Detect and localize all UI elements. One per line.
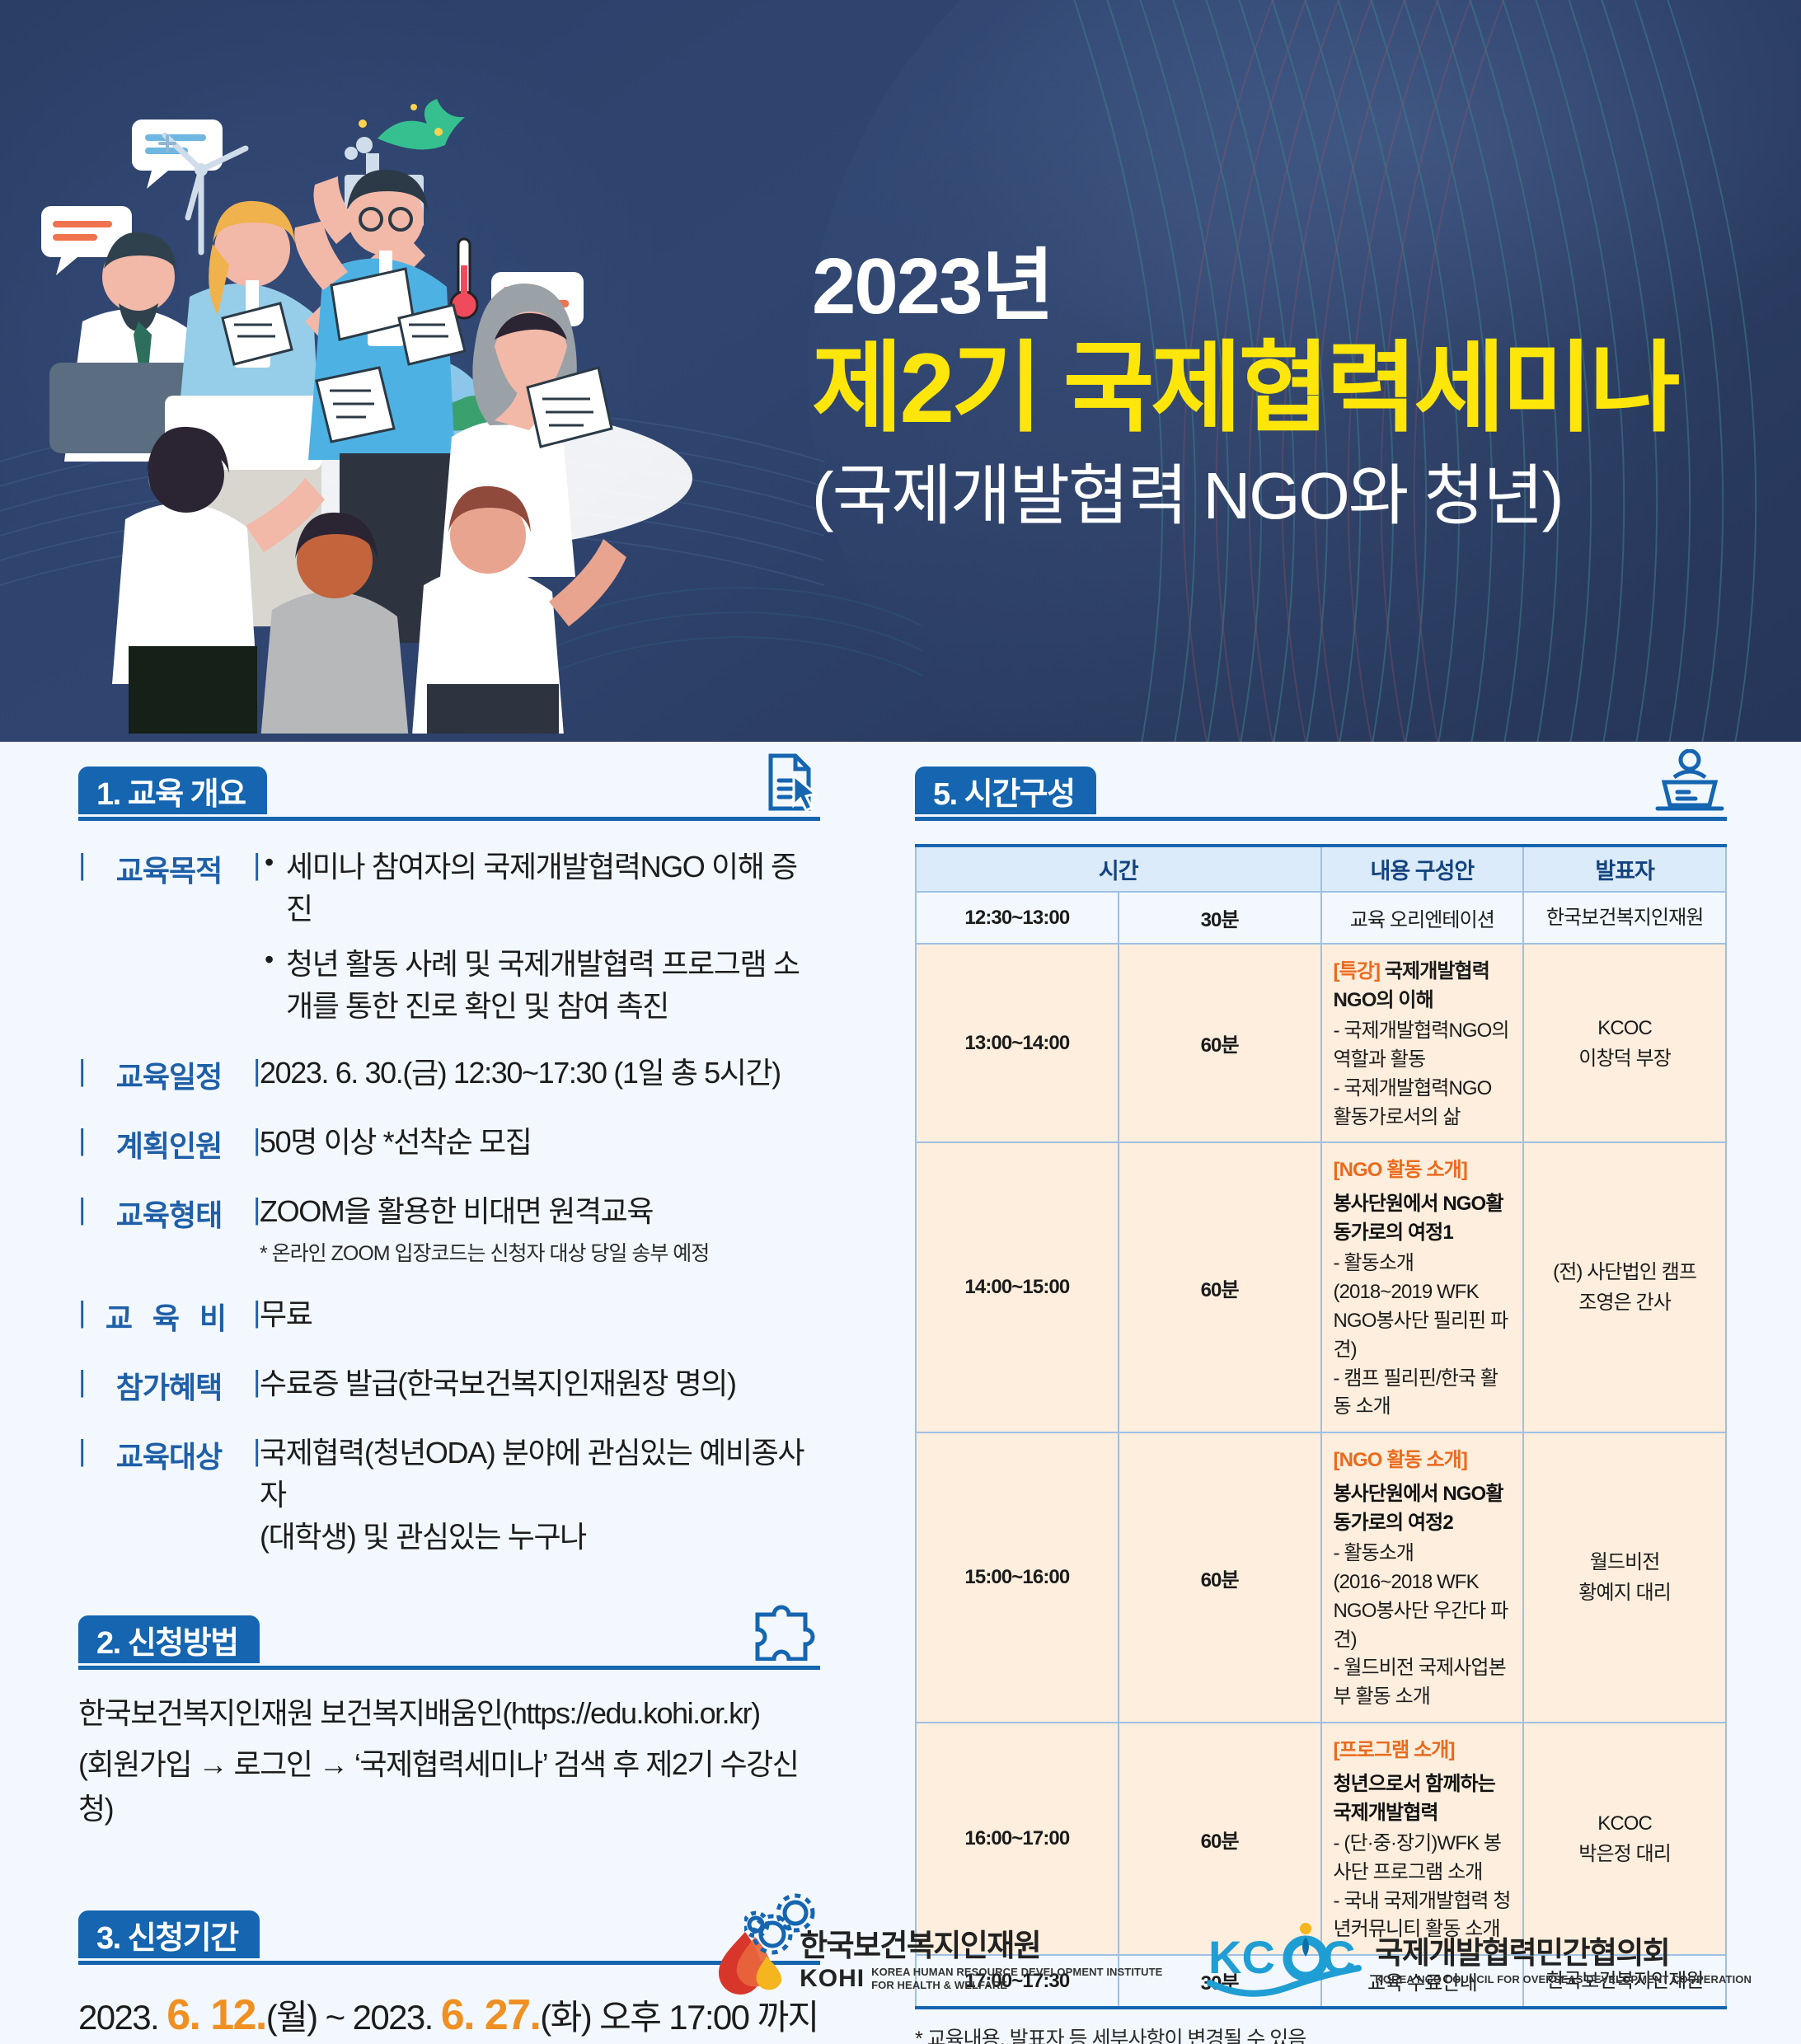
- row-content: [특강] 국제개발협력NGO의 이해 - 국제개발협력NGO의 역할과 활동 -…: [1321, 944, 1524, 1142]
- hero-subtitle: (국제개발협력 NGO와 청년): [812, 455, 1743, 537]
- overview-row: | 교육대상 | 국제협력(청년ODA) 분야에 관심있는 예비종사자 (대학생…: [78, 1432, 820, 1558]
- overview-bullet-list: 세미나 참여자의 국제개발협력NGO 이해 증진 청년 활동 사례 및 국제개발…: [260, 846, 820, 1027]
- overview-row: | 교 육 비 | 무료: [78, 1293, 820, 1338]
- hero-banner: 2023년 제2기 국제협력세미나 (국제개발협력 NGO와 청년): [0, 0, 1801, 742]
- row-detail: - 캠프 필리핀/한국 활동 소개: [1334, 1365, 1512, 1423]
- label-bar-right: |: [253, 1364, 260, 1407]
- left-column: 1. 교육 개요: [78, 766, 820, 2044]
- schedule-col-speaker: 발표자: [1523, 846, 1726, 892]
- section-apply-method-title: 2. 신청방법: [78, 1615, 260, 1663]
- svg-text:KC: KC: [1208, 1931, 1275, 1983]
- overview-label-text: 교육목적: [116, 847, 222, 890]
- section-schedule-title: 5. 시간구성: [915, 766, 1096, 814]
- label-bar-left: |: [78, 1433, 85, 1476]
- row-time: 14:00~15:00: [916, 1142, 1119, 1432]
- overview-row-value: 2023. 6. 30.(금) 12:30~17:30 (1일 총 5시간): [260, 1052, 820, 1094]
- overview-row-value: 세미나 참여자의 국제개발협력NGO 이해 증진 청년 활동 사례 및 국제개발…: [260, 846, 820, 1027]
- overview-label-text: 참가혜택: [116, 1364, 222, 1407]
- section-rule: [78, 817, 820, 821]
- row-detail: - 국제개발협력NGO의 역할과 활동: [1334, 1017, 1512, 1075]
- table-row: 15:00~16:00 60분 [NGO 활동 소개] 봉사단원에서 NGO활동…: [916, 1432, 1726, 1723]
- overview-label-text: 교 육 비: [106, 1295, 232, 1338]
- overview-label-text: 교육대상: [116, 1433, 222, 1476]
- row-time: 13:00~14:00: [916, 944, 1119, 1142]
- row-detail: - 활동소개(2018~2019 WFK NGO봉사단 필리핀 파견): [1334, 1249, 1512, 1364]
- label-bar-right: |: [253, 1295, 260, 1338]
- row-tag: [특강]: [1334, 960, 1381, 982]
- row-speaker: 한국보건복지인재원: [1523, 892, 1726, 944]
- overview-row-label: | 교육형태 |: [78, 1190, 260, 1235]
- label-bar-right: |: [253, 1053, 260, 1096]
- overview-row-label: | 교육목적 |: [78, 846, 260, 890]
- row-duration: 60분: [1119, 1142, 1321, 1432]
- label-bar-right: |: [253, 1433, 260, 1476]
- label-bar-left: |: [78, 1123, 85, 1165]
- overview-rows: | 교육목적 | 세미나 참여자의 국제개발협력NGO 이해 증진 청년 활동 …: [78, 846, 820, 1558]
- overview-row: | 참가혜택 | 수료증 발급(한국보건복지인재원장 명의): [78, 1362, 820, 1407]
- overview-row: | 교육형태 | ZOOM을 활용한 비대면 원격교육 * 온라인 ZOOM 입…: [78, 1190, 820, 1268]
- row-speaker: (전) 사단법인 캠프 조영은 간사: [1523, 1142, 1726, 1432]
- overview-value-note: * 온라인 ZOOM 입장코드는 신청자 대상 당일 송부 예정: [260, 1240, 820, 1269]
- row-time: 15:00~16:00: [916, 1432, 1119, 1723]
- right-column: 5. 시간구성 시: [915, 766, 1727, 2044]
- overview-row-label: | 참가혜택 |: [78, 1362, 260, 1407]
- overview-bullet-item: 청년 활동 사례 및 국제개발협력 프로그램 소개를 통한 진로 확인 및 참여…: [260, 943, 820, 1027]
- section-rule: [78, 1666, 820, 1670]
- overview-row-label: | 계획인원 |: [78, 1121, 260, 1165]
- overview-row-value: ZOOM을 활용한 비대면 원격교육 * 온라인 ZOOM 입장코드는 신청자 …: [260, 1190, 820, 1268]
- schedule-thead: 시간 내용 구성안 발표자: [916, 846, 1726, 892]
- apply-method-line2: (회원가입 → 로그인 → ‘국제협력세미나’ 검색 후 제2기 수강신청): [78, 1742, 820, 1831]
- row-subject: 봉사단원에서 NGO활동가로의 여정2: [1334, 1477, 1512, 1535]
- row-subject: 교육 오리엔테이션: [1321, 892, 1524, 944]
- kcoc-name-ko: 국제개발협력민간협의회: [1375, 1938, 1752, 1970]
- overview-label-text: 교육형태: [116, 1192, 222, 1235]
- label-bar-left: |: [78, 1192, 85, 1235]
- overview-row-value: 국제협력(청년ODA) 분야에 관심있는 예비종사자 (대학생) 및 관심있는 …: [260, 1432, 820, 1558]
- row-tag: [NGO 활동 소개]: [1334, 1159, 1467, 1181]
- label-bar-left: |: [78, 1295, 85, 1338]
- kcoc-logo-text: 국제개발협력민간협의회 KOREA NGO COUNCIL FOR OVERSE…: [1375, 1938, 1752, 1986]
- overview-row-value: 무료: [260, 1293, 820, 1335]
- row-duration: 60분: [1119, 1432, 1321, 1723]
- label-bar-left: |: [78, 1053, 85, 1096]
- overview-value-text: ZOOM을 활용한 비대면 원격교육: [260, 1194, 653, 1228]
- row-tag: [프로그램 소개]: [1334, 1739, 1455, 1761]
- document-cursor-icon: [757, 752, 820, 816]
- hero-people-illustration: [33, 74, 800, 734]
- body-area: 1. 교육 개요: [0, 742, 1801, 2044]
- row-content: [NGO 활동 소개] 봉사단원에서 NGO활동가로의 여정1 - 활동소개(2…: [1321, 1142, 1524, 1432]
- kohi-abbr: KOHI: [800, 1965, 865, 1993]
- poster-root: 2023년 제2기 국제협력세미나 (국제개발협력 NGO와 청년) 1. 교육…: [0, 0, 1801, 2044]
- overview-row-value: 수료증 발급(한국보건복지인재원장 명의): [260, 1362, 820, 1404]
- overview-row-label: | 교육대상 |: [78, 1432, 260, 1476]
- footer-logos: 한국보건복지인재원 KOHI KOREA HUMAN RESOURCE DEVE…: [707, 1922, 1752, 2001]
- hero-text-block: 2023년 제2기 국제협력세미나 (국제개발협력 NGO와 청년): [812, 247, 1743, 537]
- row-tag: [NGO 활동 소개]: [1334, 1449, 1467, 1471]
- row-content: [NGO 활동 소개] 봉사단원에서 NGO활동가로의 여정2 - 활동소개(2…: [1321, 1432, 1524, 1723]
- kohi-name-en-block: KOHI KOREA HUMAN RESOURCE DEVELOPMENT IN…: [800, 1965, 1162, 1993]
- overview-row-label: | 교육일정 |: [78, 1052, 260, 1096]
- presenter-icon: [1653, 749, 1727, 816]
- overview-bullet-item: 세미나 참여자의 국제개발협력NGO 이해 증진: [260, 846, 820, 930]
- table-row: 13:00~14:00 60분 [특강] 국제개발협력NGO의 이해 - 국제개…: [916, 944, 1726, 1142]
- kohi-eng-line1: KOREA HUMAN RESOURCE DEVELOPMENT INSTITU…: [871, 1966, 1162, 1979]
- overview-row-label: | 교 육 비 |: [78, 1293, 260, 1338]
- overview-row: | 교육목적 | 세미나 참여자의 국제개발협력NGO 이해 증진 청년 활동 …: [78, 846, 820, 1027]
- schedule-header-row: 시간 내용 구성안 발표자: [916, 846, 1726, 892]
- kohi-eng-line2: FOR HEALTH & WELFARE: [871, 1979, 1162, 1992]
- kohi-logo-text: 한국보건복지인재원 KOHI KOREA HUMAN RESOURCE DEVE…: [800, 1930, 1162, 1993]
- schedule-tbody: 12:30~13:00 30분 교육 오리엔테이션 한국보건복지인재원 13:0…: [916, 892, 1726, 2008]
- hero-title: 제2기 국제협력세미나: [812, 333, 1743, 443]
- kcoc-mark-icon: KC C: [1205, 1922, 1362, 2001]
- section-apply-method-header: 2. 신청방법: [78, 1615, 820, 1670]
- overview-label-text: 계획인원: [116, 1123, 222, 1165]
- kcoc-logo: KC C 국제개발협력민간협의회 KOREA NGO COUNCIL FOR O…: [1205, 1922, 1752, 2001]
- overview-row: | 교육일정 | 2023. 6. 30.(금) 12:30~17:30 (1일…: [78, 1052, 820, 1096]
- label-bar-left: |: [78, 1364, 85, 1407]
- apply-method-line1: 한국보건복지인재원 보건복지배움인(https://edu.kohi.or.kr…: [78, 1691, 820, 1736]
- label-bar-left: |: [78, 847, 85, 890]
- row-detail: - 국제개발협력NGO 활동가로서의 삶: [1334, 1075, 1512, 1132]
- row-time: 12:30~13:00: [916, 892, 1119, 944]
- footer: 한국보건복지인재원 KOHI KOREA HUMAN RESOURCE DEVE…: [0, 1879, 1801, 2044]
- table-row: 12:30~13:00 30분 교육 오리엔테이션 한국보건복지인재원: [916, 892, 1726, 944]
- table-row: 14:00~15:00 60분 [NGO 활동 소개] 봉사단원에서 NGO활동…: [916, 1142, 1726, 1432]
- puzzle-icon: [749, 1600, 820, 1665]
- kohi-eng: KOREA HUMAN RESOURCE DEVELOPMENT INSTITU…: [871, 1966, 1162, 1991]
- schedule-col-content: 내용 구성안: [1321, 846, 1524, 892]
- schedule-table: 시간 내용 구성안 발표자 12:30~13:00 30분 교육 오리엔테이션 …: [915, 844, 1727, 2009]
- overview-label-text: 교육일정: [116, 1053, 222, 1096]
- section-apply-period-title: 3. 신청기간: [78, 1910, 260, 1958]
- row-heading-line: [특강] 국제개발협력NGO의 이해: [1334, 954, 1512, 1012]
- label-bar-right: |: [253, 1192, 260, 1235]
- label-bar-right: |: [253, 1123, 260, 1165]
- row-duration: 30분: [1119, 892, 1321, 944]
- section-overview: 1. 교육 개요: [78, 766, 820, 1558]
- label-bar-right: |: [253, 847, 260, 890]
- kohi-name-ko: 한국보건복지인재원: [800, 1930, 1162, 1962]
- schedule-col-time: 시간: [916, 846, 1321, 892]
- section-rule: [915, 817, 1727, 821]
- section-overview-header: 1. 교육 개요: [78, 766, 820, 821]
- row-detail: - 월드비전 국제사업본부 활동 소개: [1334, 1654, 1512, 1712]
- section-schedule-header: 5. 시간구성: [915, 766, 1727, 821]
- hero-year: 2023년: [812, 247, 1743, 326]
- gears-icon: [744, 1892, 820, 1960]
- section-overview-title: 1. 교육 개요: [78, 766, 267, 814]
- row-detail: - 활동소개(2016~2018 WFK NGO봉사단 우간다 파견): [1334, 1540, 1512, 1654]
- row-speaker: KCOC 이창덕 부장: [1523, 944, 1726, 1142]
- section-apply-method: 2. 신청방법 한국보건복지인재원 보건복지배움인(https://edu.ko…: [78, 1615, 820, 1831]
- row-subject: 청년으로서 함께하는 국제개발협력: [1334, 1767, 1512, 1825]
- overview-row: | 계획인원 | 50명 이상 *선착순 모집: [78, 1121, 820, 1165]
- overview-row-value: 50명 이상 *선착순 모집: [260, 1121, 820, 1163]
- section-schedule: 5. 시간구성 시: [915, 766, 1727, 2044]
- row-duration: 60분: [1119, 944, 1321, 1142]
- row-speaker: 월드비전 황예지 대리: [1523, 1432, 1726, 1723]
- row-subject: 봉사단원에서 NGO활동가로의 여정1: [1334, 1187, 1512, 1245]
- kcoc-eng: KOREA NGO COUNCIL FOR OVERSEAS DEVELOPME…: [1375, 1973, 1752, 1985]
